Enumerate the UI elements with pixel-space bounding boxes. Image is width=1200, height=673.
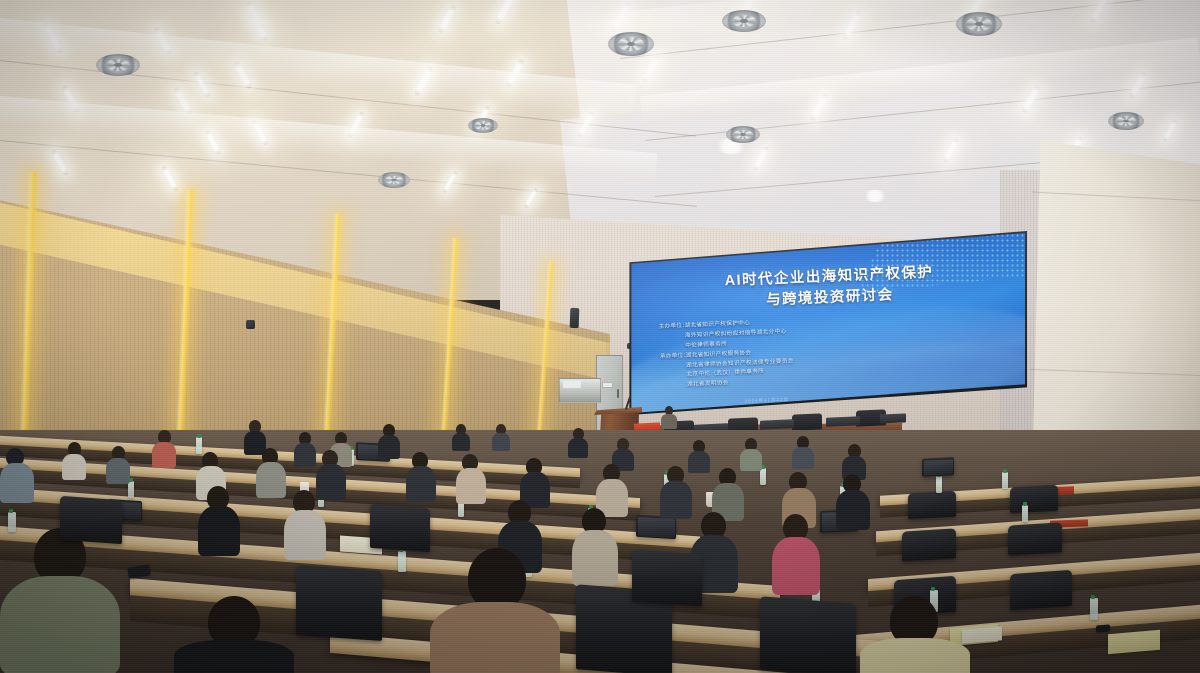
person-body	[492, 433, 510, 451]
screen-organizer-org: 湖北省知识产权服务协会	[685, 348, 751, 359]
person-body	[660, 481, 692, 519]
chair	[908, 491, 956, 520]
ceiling-vent	[956, 12, 1002, 36]
led-video-wall[interactable]: AI时代企业出海知识产权保护 与跨境投资研讨会 主办单位： 湖北省知识产权保护中…	[629, 233, 1025, 413]
chair	[370, 504, 430, 552]
attendee	[572, 508, 618, 578]
person-body	[0, 463, 34, 503]
water-bottle	[1022, 505, 1028, 522]
chair	[296, 565, 382, 641]
person-head	[468, 548, 526, 610]
person-body	[452, 433, 470, 451]
person-body	[772, 537, 820, 595]
laptop[interactable]	[922, 457, 954, 477]
table-name-plate	[826, 416, 860, 426]
attendee	[520, 458, 550, 504]
person-body	[0, 576, 120, 673]
person-body	[860, 638, 970, 673]
ceiling-light-glow	[862, 190, 888, 202]
person-body	[378, 435, 400, 459]
attendee	[712, 468, 744, 516]
person-body	[572, 530, 618, 586]
attendee	[568, 428, 588, 456]
av-control-label	[563, 381, 581, 388]
person-body	[430, 602, 560, 673]
chair	[1008, 522, 1062, 555]
chair	[60, 496, 122, 544]
ceiling-vent	[722, 10, 766, 32]
attendee	[174, 596, 294, 673]
screen-host-org: 海外知识产权纠纷应对指导湖北分中心	[685, 327, 787, 339]
person-body	[792, 447, 814, 469]
attendee	[456, 454, 486, 500]
attendee	[596, 464, 628, 512]
attendee	[792, 436, 814, 466]
water-bottle	[128, 481, 134, 498]
person-body	[198, 506, 240, 556]
water-bottle	[1090, 598, 1098, 620]
conference-hall-photo: AI时代企业出海知识产权保护 与跨境投资研讨会 主办单位： 湖北省知识产权保护中…	[0, 0, 1200, 673]
door-handle-icon[interactable]	[617, 389, 619, 398]
attendee	[294, 432, 316, 464]
screen-organizer-org: 湖北省发明协会	[687, 378, 729, 388]
attendee	[430, 548, 560, 673]
person-body	[406, 466, 436, 502]
person-body	[152, 442, 176, 468]
attendee	[772, 514, 820, 588]
person-body	[106, 458, 130, 484]
attendee	[860, 596, 970, 673]
attendee	[62, 442, 86, 476]
ceiling-vent	[378, 172, 410, 188]
person-body	[294, 443, 316, 467]
person-body	[836, 490, 870, 530]
attendee	[284, 490, 326, 554]
av-control-window	[559, 378, 601, 403]
screen-host-org: 湖北省知识产权保护中心	[684, 318, 750, 329]
water-bottle	[1002, 472, 1008, 489]
door-sign	[602, 382, 613, 388]
attendee	[378, 424, 400, 456]
attendee	[0, 528, 120, 673]
attendee	[836, 474, 870, 524]
table-name-plate	[760, 419, 794, 429]
chair	[760, 596, 856, 673]
person-body	[174, 640, 294, 673]
phone	[1096, 624, 1110, 632]
ceiling-vent	[96, 54, 140, 76]
screen-host-org: 中伦律师事务所	[685, 339, 727, 349]
wall-speaker-icon	[570, 308, 580, 328]
attendee	[452, 424, 470, 450]
water-bottle	[936, 476, 942, 493]
person-body	[284, 510, 326, 560]
water-bottle	[760, 468, 766, 485]
water-bottle	[398, 551, 406, 572]
chair	[1010, 570, 1072, 610]
speaker-at-table	[661, 406, 677, 428]
wall-speaker-icon	[246, 320, 255, 329]
ceiling-vent	[608, 32, 654, 56]
attendee	[660, 466, 692, 514]
head-table-chair	[792, 413, 822, 430]
chair	[632, 550, 702, 607]
attendee	[406, 452, 436, 498]
table-name-plate	[880, 413, 906, 423]
attendee	[256, 448, 286, 494]
attendee	[198, 486, 240, 550]
chair	[1010, 485, 1058, 514]
person-body	[661, 414, 677, 429]
chair	[902, 528, 956, 561]
person-body	[256, 462, 286, 498]
ceiling-vent	[468, 118, 498, 133]
attendee	[152, 430, 176, 464]
ceiling-vent	[726, 126, 760, 143]
laptop-screen	[638, 516, 675, 537]
person-body	[62, 454, 86, 480]
attendee	[842, 444, 866, 476]
ceiling-vent	[1108, 112, 1144, 130]
attendee	[106, 446, 130, 480]
attendee	[492, 424, 510, 450]
attendee	[740, 438, 762, 468]
screen-organizer-org: 北京中伦（武汉）律师事务所	[686, 367, 764, 378]
attendee	[0, 448, 34, 500]
person-body	[456, 468, 486, 504]
person-body	[568, 438, 588, 458]
laptop-screen	[924, 459, 953, 476]
